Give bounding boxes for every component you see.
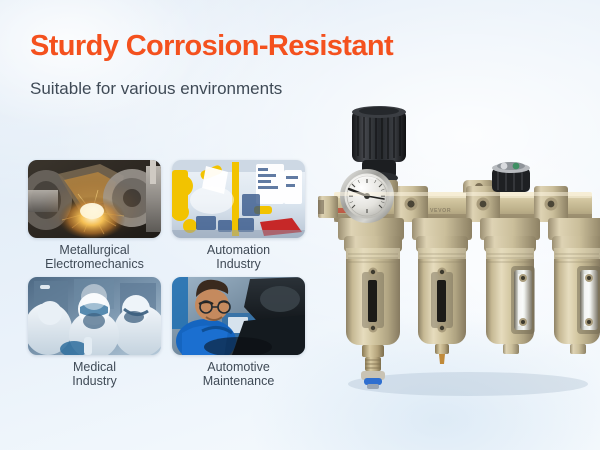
brand-logo: VEVOR xyxy=(430,208,451,215)
card-row: Medical Industry xyxy=(28,277,310,388)
air-filter-regulator-lubricator-assembly: VEVOR xyxy=(318,96,600,396)
application-card-metallurgical: Metallurgical Electromechanics xyxy=(28,160,161,271)
auto-drain-valve xyxy=(361,345,385,389)
application-card-label: Metallurgical Electromechanics xyxy=(28,243,161,271)
application-card-label: Automotive Maintenance xyxy=(172,360,305,388)
automation-robotic-assembly-line-photo xyxy=(172,160,305,238)
medical-cleanroom-workers-photo xyxy=(28,277,161,355)
promo-banner: Sturdy Corrosion-Resistant Suitable for … xyxy=(0,0,600,450)
headline-subtitle: Suitable for various environments xyxy=(30,79,282,99)
application-card-automotive: Automotive Maintenance xyxy=(172,277,305,388)
background-light-wash xyxy=(0,0,200,130)
card-row: Metallurgical Electromechanics xyxy=(28,160,310,271)
application-card-medical: Medical Industry xyxy=(28,277,161,388)
application-card-label: Automation Industry xyxy=(172,243,305,271)
headline-title: Sturdy Corrosion-Resistant xyxy=(30,30,393,63)
application-card-automation: Automation Industry xyxy=(172,160,305,271)
metallurgical-machining-sparks-photo xyxy=(28,160,161,238)
automotive-mechanic-engine-bay-photo xyxy=(172,277,305,355)
application-card-label: Medical Industry xyxy=(28,360,161,388)
application-card-grid: Metallurgical Electromechanics xyxy=(28,160,310,394)
